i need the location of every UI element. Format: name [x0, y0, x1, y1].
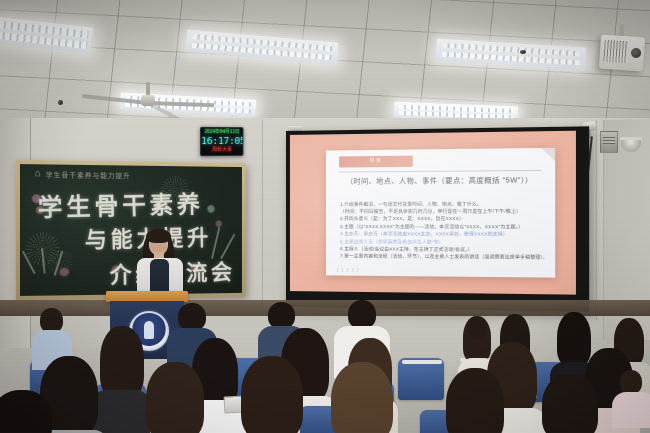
- projected-slide: 导读 （时间、地点、人物、事件（要点：高度概括 "5W"）） 1.介绍事件概况，…: [290, 131, 576, 295]
- seat-armrest: [402, 360, 442, 364]
- wall-seam: [596, 120, 597, 320]
- slide-footer-marks: 〉〉〉〉〉: [337, 267, 364, 273]
- slide-divider: [339, 170, 541, 173]
- audience-head: [462, 370, 494, 403]
- slide-body-line: （时间：不同日报告，不足具体到几时几分，举行是在一周只是在上午/下午/晚上）: [340, 207, 544, 215]
- led-clock-display: 2024年04月11日 16:17:05 周秋大事: [200, 127, 243, 156]
- audience-head: [505, 316, 525, 338]
- blackboard-frame: ⌂ 学生骨干素养与能力提升 学生骨干素养 与能力提升 介绍交流会: [16, 160, 246, 300]
- audience-head: [294, 330, 322, 359]
- projection-screen: 导读 （时间、地点、人物、事件（要点：高度概括 "5W"）） 1.介绍事件概况，…: [286, 126, 589, 311]
- wall-seam: [262, 120, 263, 310]
- chalk-flower: [59, 268, 69, 277]
- audience-body: [92, 390, 150, 433]
- lecture-hall-photo: ⌂ 学生骨干素养与能力提升 学生骨干素养 与能力提升 介绍交流会: [0, 0, 650, 433]
- slide-body: 1.介绍事件概况，一句话交代背景时间、人物、地点、做了什么。 （时间：不同日报告…: [340, 200, 544, 262]
- blackboard-header-text: 学生骨干素养与能力提升: [46, 170, 131, 181]
- presenter-hair-front: [146, 229, 171, 243]
- audience-area: [0, 300, 650, 433]
- slide-section-badge-label: 导读: [339, 155, 413, 167]
- led-clock-scroll-text: 周秋大事: [201, 147, 242, 154]
- ceiling: [0, 0, 650, 132]
- school-logo-icon: ⌂: [32, 168, 44, 180]
- audience-head: [564, 314, 586, 337]
- audience-head: [110, 328, 136, 356]
- audience-head: [162, 364, 194, 397]
- audience-head: [348, 300, 376, 329]
- audience-body: [612, 392, 650, 428]
- audience-head: [468, 318, 487, 339]
- audience-head: [8, 392, 40, 424]
- chalk-flower: [207, 205, 214, 213]
- ceiling-shading: [0, 0, 650, 132]
- slide-content-card: 导读 （时间、地点、人物、事件（要点：高度概括 "5W"）） 1.介绍事件概况，…: [326, 147, 555, 278]
- led-clock-date: 2024年04月11日: [201, 128, 242, 136]
- slide-title: （时间、地点、人物、事件（要点：高度概括 "5W"））: [339, 175, 541, 187]
- audience-head: [500, 344, 529, 374]
- audience-head: [178, 303, 206, 331]
- slide-section-badge: 导读: [339, 155, 413, 167]
- auditorium-seat[interactable]: [398, 358, 444, 400]
- audience-head: [620, 370, 642, 394]
- audience-head: [619, 320, 639, 342]
- audience-head: [349, 364, 383, 398]
- led-clock-time: 16:17:05: [201, 136, 242, 147]
- audience-head: [203, 340, 230, 368]
- audience-head: [56, 358, 88, 392]
- blackboard: ⌂ 学生骨干素养与能力提升 学生骨干素养 与能力提升 介绍交流会: [20, 164, 242, 296]
- audience-head: [259, 358, 293, 393]
- presenter: [132, 229, 190, 299]
- audience-head: [268, 302, 295, 329]
- blackboard-chalk-line: 学生骨干素养: [37, 186, 204, 225]
- slide-body-line: 2.开的头意义（是：为了XXX，是：XXXX，旨在XXXX）: [340, 215, 544, 223]
- audience-head: [558, 376, 589, 408]
- slide-body-line: 7.第一主要内容和流程（活动、环节），以及主要人士发表的讲话（强调需要出席单手稿…: [340, 253, 544, 262]
- wall-control-box[interactable]: [600, 131, 618, 153]
